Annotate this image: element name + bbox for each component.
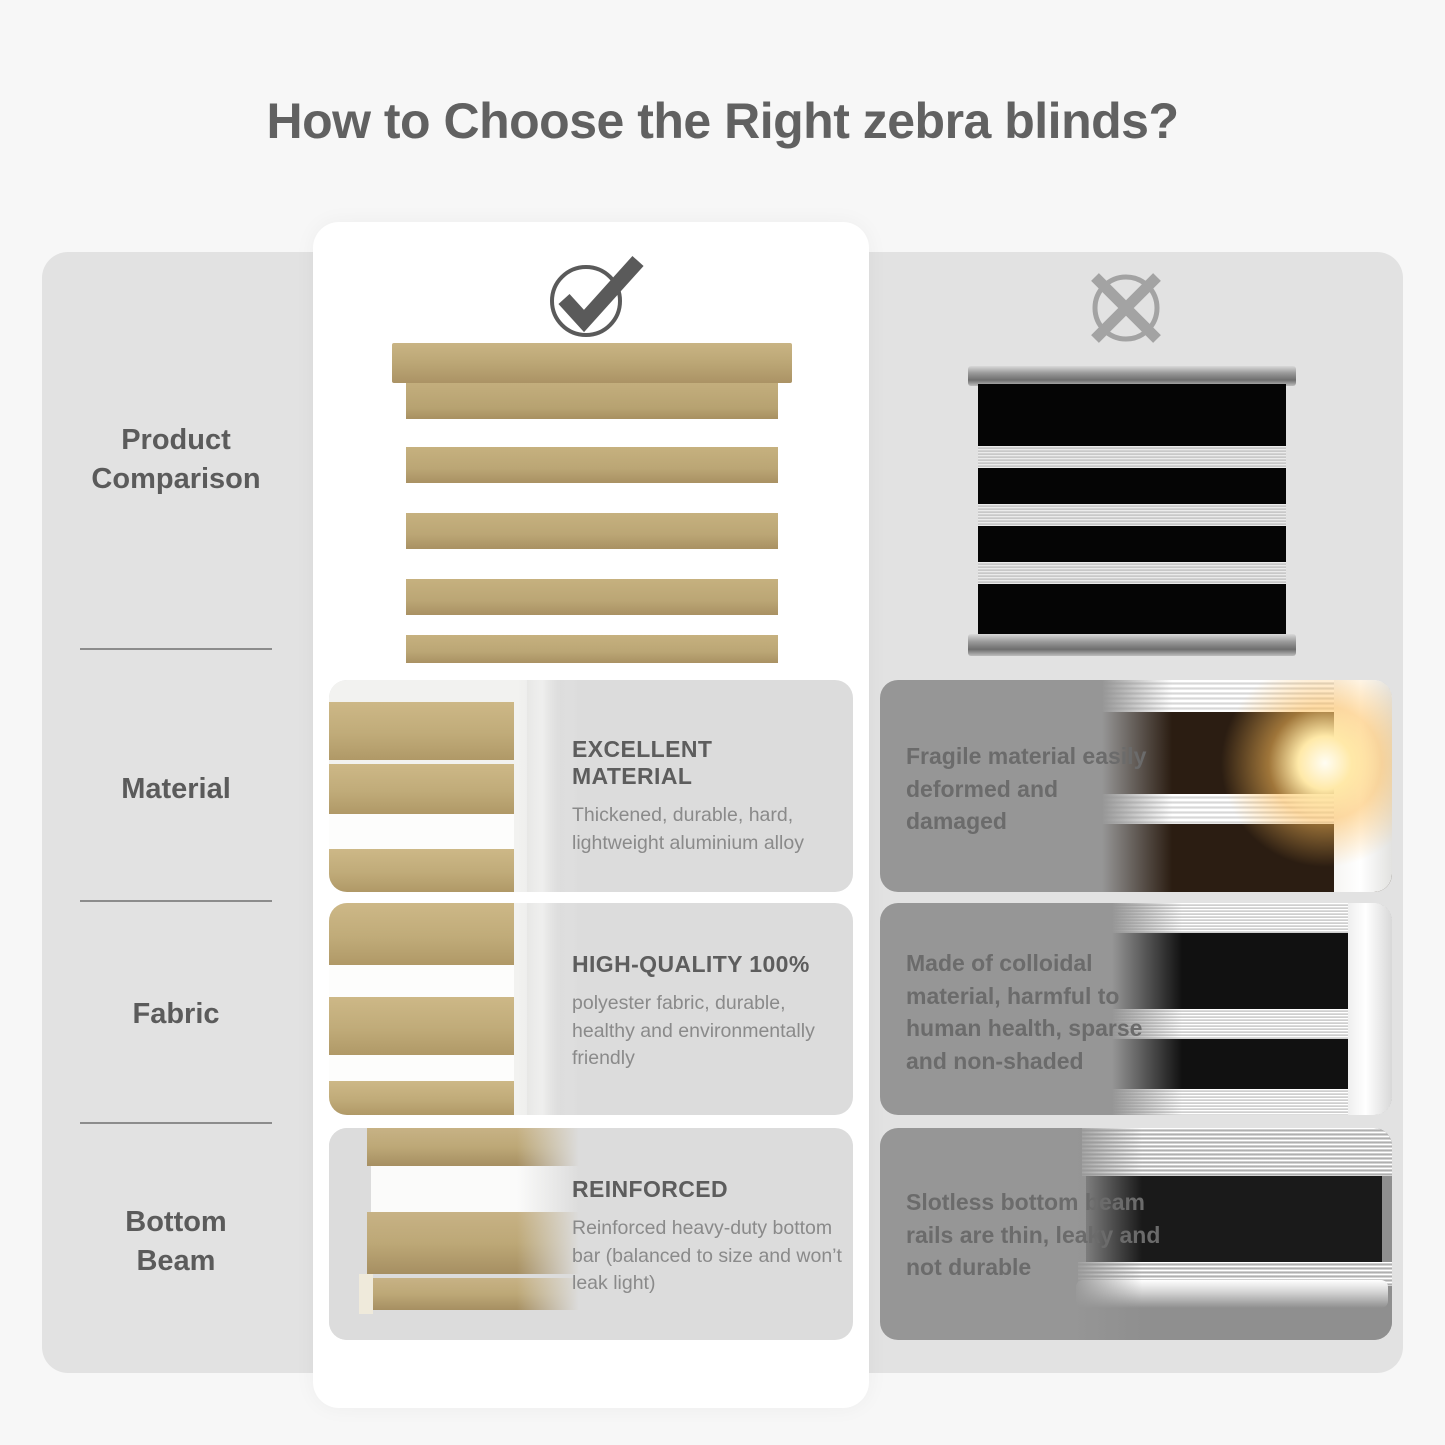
- good-card-fabric-body: polyester fabric, durable, healthy and e…: [572, 990, 842, 1073]
- label-divider-2: [80, 900, 272, 902]
- label-divider-1: [80, 648, 272, 650]
- tan-slat: [406, 447, 778, 483]
- good-card-material: EXCELLENT MATERIAL Thickened, durable, h…: [329, 680, 853, 892]
- label-divider-3: [80, 1122, 272, 1124]
- black-headrail: [968, 366, 1296, 386]
- row-label-fabric: Fabric: [42, 985, 310, 1045]
- row-label-text: Fabric: [132, 995, 219, 1034]
- good-card-fabric-text: HIGH-QUALITY 100% polyester fabric, dura…: [572, 951, 842, 1073]
- blind-slat-lines: [1082, 1128, 1392, 1176]
- tan-slat: [406, 579, 778, 615]
- tan-reinforced-bottom-bar-image: [329, 1128, 579, 1340]
- good-card-material-heading: EXCELLENT MATERIAL: [572, 736, 834, 790]
- black-blind-sheer-band: [978, 562, 1286, 584]
- tan-bottom-bar: [406, 635, 778, 663]
- good-card-bottom-beam-body: Reinforced heavy-duty bottom bar (balanc…: [572, 1215, 842, 1298]
- row-label-text: Material: [121, 770, 231, 809]
- check-circle-icon: [538, 253, 648, 343]
- black-blind-sheer-band: [978, 446, 1286, 468]
- black-bottom-rail: [968, 634, 1296, 656]
- tan-slat: [406, 513, 778, 549]
- black-blind-body: [978, 384, 1286, 634]
- good-card-fabric-heading: HIGH-QUALITY 100%: [572, 951, 842, 978]
- tan-blind-fabric-closeup-image: [329, 903, 579, 1115]
- row-label-product-comparison: ProductComparison: [42, 400, 310, 520]
- page-title: How to Choose the Right zebra blinds?: [0, 92, 1445, 150]
- good-card-fabric: HIGH-QUALITY 100% polyester fabric, dura…: [329, 903, 853, 1115]
- tan-slat: [367, 1128, 579, 1166]
- cross-circle-icon: [1078, 268, 1174, 348]
- tan-band: [329, 903, 514, 965]
- white-sheer-band: [329, 814, 514, 849]
- tan-zebra-blind-full-image: [392, 343, 792, 663]
- bad-card-fabric: Made of colloidal material, harmful to h…: [880, 903, 1392, 1115]
- tan-headrail: [392, 343, 792, 383]
- good-card-bottom-beam-heading: REINFORCED: [572, 1176, 842, 1203]
- tan-band: [329, 849, 514, 892]
- window-frame: [1348, 903, 1392, 1115]
- tan-band: [329, 764, 514, 814]
- white-sheer-band: [329, 1055, 514, 1081]
- bottom-bar-endcap: [359, 1274, 373, 1314]
- bad-card-material: Fragile material easily deformed and dam…: [880, 680, 1392, 892]
- infographic-root: How to Choose the Right zebra blinds? Pr…: [0, 0, 1445, 1445]
- bad-card-bottom-beam: Slotless bottom beam rails are thin, lea…: [880, 1128, 1392, 1340]
- thin-bottom-rail: [1076, 1280, 1388, 1308]
- good-card-material-body: Thickened, durable, hard, lightweight al…: [572, 802, 834, 857]
- row-label-material: Material: [42, 760, 310, 820]
- tan-slat: [367, 1212, 579, 1274]
- row-label-bottom-beam: BottomBeam: [42, 1182, 310, 1302]
- tan-band: [329, 702, 514, 760]
- tan-band: [329, 997, 514, 1055]
- bad-card-material-text: Fragile material easily deformed and dam…: [906, 740, 1156, 838]
- white-sheer-band: [371, 1166, 579, 1212]
- row-label-column: ProductComparison Material Fabric Bottom…: [42, 252, 310, 1373]
- good-card-material-text: EXCELLENT MATERIAL Thickened, durable, h…: [572, 736, 834, 857]
- good-card-bottom-beam: REINFORCED Reinforced heavy-duty bottom …: [329, 1128, 853, 1340]
- tan-band: [329, 1081, 514, 1115]
- row-label-text: ProductComparison: [91, 421, 260, 499]
- black-blind-sheer-band: [978, 504, 1286, 526]
- white-sheer-band: [329, 965, 514, 997]
- row-label-text: BottomBeam: [125, 1203, 226, 1281]
- tan-blind-window-closeup-image: [329, 680, 579, 892]
- bad-card-fabric-text: Made of colloidal material, harmful to h…: [906, 947, 1168, 1078]
- good-card-bottom-beam-text: REINFORCED Reinforced heavy-duty bottom …: [572, 1176, 842, 1298]
- bad-card-bottom-beam-text: Slotless bottom beam rails are thin, lea…: [906, 1186, 1162, 1284]
- black-zebra-blind-full-image: [968, 366, 1296, 656]
- tan-bottom-bar: [363, 1278, 579, 1310]
